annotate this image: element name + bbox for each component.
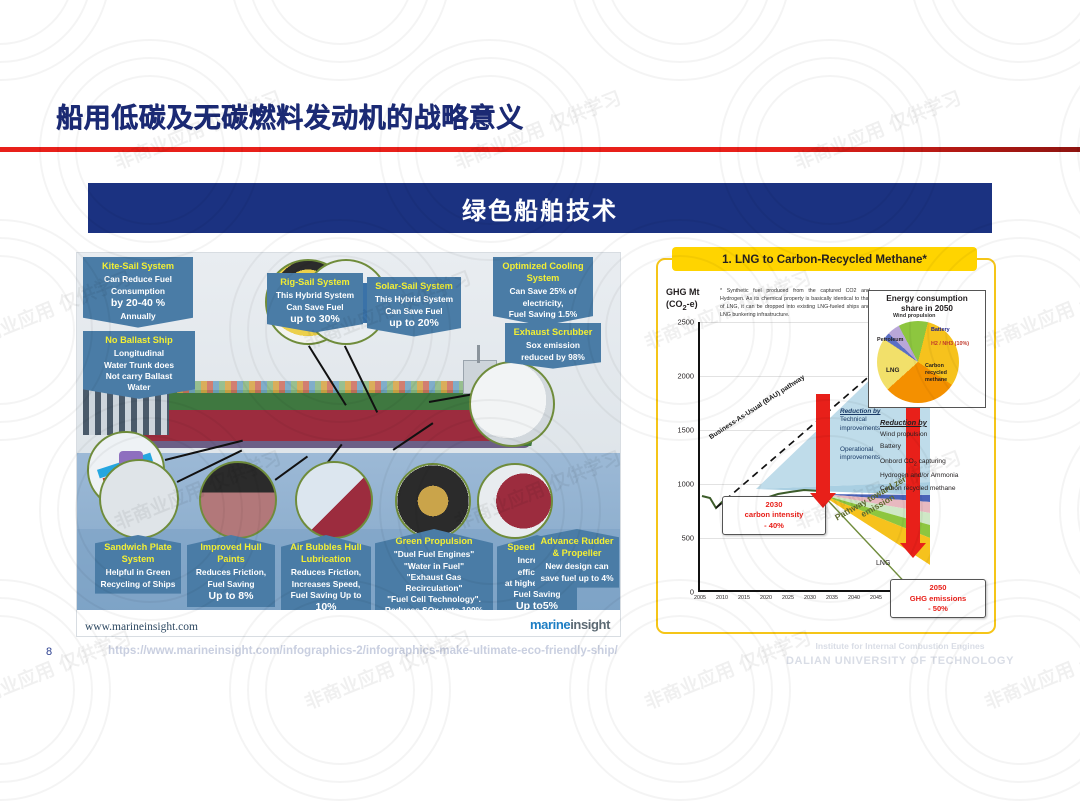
label-line: Can Save Fuel	[286, 302, 343, 312]
label-line: Fuel Saving	[207, 579, 254, 589]
label-line: This Hybrid System	[375, 294, 453, 304]
label-heading: Improved Hull Paints	[192, 542, 270, 566]
label-heading: No Ballast Ship	[88, 335, 190, 347]
label-line: "Water in Fuel"	[404, 561, 464, 571]
x-tick-label: 2005	[694, 595, 706, 601]
watermark-arc	[247, 0, 433, 63]
air-bubble-photo	[295, 461, 373, 539]
callout-line: - 40%	[764, 521, 784, 530]
label-line: Not carry Ballast	[106, 371, 173, 381]
x-tick-label: 2020	[760, 595, 772, 601]
label-heading: Sandwich Plate System	[100, 542, 176, 566]
chart-title: 1. LNG to Carbon-Recycled Methane*	[672, 247, 977, 271]
label-line: Water	[128, 382, 151, 392]
watermark-arc	[0, 0, 75, 45]
logo-text-marine: marine	[530, 617, 570, 632]
legend-item-battery: Battery	[866, 443, 988, 451]
label-line: Recycling of Ships	[101, 579, 176, 589]
page-number: 8	[46, 646, 52, 658]
y-tick-label: 1000	[678, 480, 694, 489]
watermark-arc	[1059, 399, 1080, 621]
watermark-arc	[587, 0, 773, 63]
label-line: by 20-40 %	[111, 297, 165, 309]
label-heading: Air Bubbles Hull Lubrication	[286, 542, 366, 566]
label-line: Reduces Friction,	[291, 567, 361, 577]
y-tick-label: 1500	[678, 426, 694, 435]
pie-label-petroleum: Petroleum	[877, 337, 903, 343]
red-arrow-2030	[816, 394, 830, 494]
legend-item-wind-propulsion: Wind propulsion	[866, 431, 988, 439]
label-line: Can Save Fuel	[385, 306, 442, 316]
label-line: electricity,	[523, 298, 564, 308]
energy-share-pie	[877, 321, 959, 403]
x-tick-label: 2030	[804, 595, 816, 601]
watermark-arc	[0, 0, 93, 63]
watermark-arc	[945, 615, 1080, 765]
label-line: This Hybrid System	[276, 290, 354, 300]
label-line: Can Reduce Fuel	[104, 274, 172, 284]
watermark-arc	[945, 0, 1080, 45]
sandwich-plate-photo	[99, 459, 179, 539]
infographic-source-url: www.marineinsight.com	[85, 621, 198, 633]
label-line: Longitudinal	[114, 348, 164, 358]
label-improved-hull-paints: Improved Hull Paints Reduces Friction, F…	[187, 535, 275, 607]
section-banner-label: 绿色船舶技术	[462, 191, 618, 226]
section-banner: 绿色船舶技术	[88, 183, 992, 233]
label-advance-rudder: Advance Rudder & Propeller New design ca…	[535, 529, 619, 588]
hull-paint-photo	[199, 461, 277, 539]
pie-label-h2-nh3: H2 / NH3 (10%)	[931, 341, 983, 348]
x-tick-label: 2025	[782, 595, 794, 601]
label-heading: Exhaust Scrubber	[510, 327, 596, 339]
legend-item-hydrogen-ammonia: Hydrogen and/or Ammonia	[866, 472, 988, 480]
label-line: Consumption	[111, 286, 165, 296]
watermark-arc	[605, 0, 755, 45]
pie-label-wind-propulsion: Wind propulsion	[893, 313, 935, 319]
label-optimized-cooling: Optimized Cooling System Can Save 25% of…	[493, 257, 593, 326]
speed-nozzle-photo	[395, 463, 471, 539]
legend-item-onboard-co2: Onbord CO2 capturing	[866, 458, 988, 468]
x-tick-label: 2035	[826, 595, 838, 601]
energy-share-pie-panel: Energy consumption share in 2050 Wind pr…	[868, 290, 986, 408]
pie-title-line2: share in 2050	[901, 304, 953, 313]
watermark-arc	[229, 0, 451, 81]
callout-line: 2030	[766, 500, 783, 509]
watermark-arc	[0, 0, 111, 81]
label-line: Sox emission	[526, 340, 580, 350]
watermark-arc	[605, 615, 755, 765]
callout-line: carbon intensity	[745, 510, 804, 519]
ship-containers	[177, 381, 477, 393]
page-title: 船用低碳及无碳燃料发动机的战略意义	[56, 96, 524, 135]
watermark-arc	[927, 0, 1080, 63]
label-line: Fuel Saving	[513, 589, 560, 599]
label-heading: Rig-Sail System	[272, 277, 358, 289]
pie-label-battery: Battery	[931, 327, 950, 333]
label-line: up to 30%	[290, 313, 340, 325]
x-tick-label: 2010	[716, 595, 728, 601]
label-line: "Duel Fuel Engines"	[394, 549, 475, 559]
chart-y-axis-label: GHG Mt (CO2-e)	[666, 286, 700, 313]
label-line: Increases Speed,	[292, 579, 360, 589]
label-heading: Solar-Sail System	[372, 281, 456, 293]
rudder-propeller-photo	[477, 463, 553, 539]
watermark-arc	[569, 0, 791, 81]
label-line: Reduces Friction,	[196, 567, 266, 577]
y-axis-label-line1: GHG Mt	[666, 287, 700, 297]
y-tick-label: 2500	[678, 318, 694, 327]
ship-mast	[477, 345, 480, 363]
label-kite-sail: Kite-Sail System Can Reduce Fuel Consump…	[83, 257, 193, 328]
label-heading: Kite-Sail System	[88, 261, 188, 273]
callout-2050-ghg-emissions: 2050 GHG emissions - 50%	[890, 579, 986, 618]
watermark-text: 非商业应用 仅供学习	[790, 83, 965, 175]
label-line: New design can	[545, 561, 608, 571]
label-air-bubbles: Air Bubbles Hull Lubrication Reduces Fri…	[281, 535, 371, 619]
label-heading: Optimized Cooling System	[498, 261, 588, 285]
label-heading: Advance Rudder & Propeller	[540, 536, 614, 560]
label-line: Fuel Saving 1.5%	[509, 309, 577, 319]
label-solar-sail: Solar-Sail System This Hybrid System Can…	[367, 277, 461, 337]
legend-title: Reduction by	[866, 418, 988, 427]
label-exhaust-scrubber: Exhaust Scrubber Sox emission reduced by…	[505, 323, 601, 369]
watermark-arc	[0, 255, 75, 405]
logo-text-insight: insight	[570, 617, 610, 632]
ship-waterline	[133, 441, 531, 448]
annotation-lng-wedge: LNG	[876, 560, 890, 567]
pie-title-line1: Energy consumption	[886, 294, 967, 303]
marineinsight-logo: marineinsight	[530, 617, 610, 632]
watermark-text: 非商业应用 仅供学习	[0, 623, 135, 715]
watermark-text: 非商业应用 仅供学习	[300, 623, 475, 715]
label-line: Fuel Saving Up to	[291, 590, 362, 600]
label-line: "Exhaust Gas Recirculation"	[405, 572, 462, 593]
watermark-arc	[265, 0, 415, 45]
pie-label-carbon-recycled-methane: Carbon recycled methane	[925, 363, 967, 384]
y-tick-label: 500	[682, 534, 694, 543]
exhaust-scrubber-photo	[469, 361, 555, 447]
title-divider	[0, 147, 1080, 152]
lng-carbon-recycled-methane-chart: 1. LNG to Carbon-Recycled Methane* GHG M…	[656, 258, 996, 634]
source-url: https://www.marineinsight.com/infographi…	[108, 644, 618, 657]
chart-legend: Reduction by Wind propulsion Battery Onb…	[866, 418, 988, 497]
legend-item-carbon-recycled-methane: Carbon recycled methane	[866, 485, 988, 493]
eco-ship-infographic: Kite-Sail System Can Reduce Fuel Consump…	[76, 252, 621, 637]
watermark-arc	[909, 0, 1080, 81]
x-tick-label: 2040	[848, 595, 860, 601]
watermark-arc	[0, 615, 75, 765]
label-line: Annually	[120, 311, 155, 321]
annotation-reduction-by-title: Reduction by	[840, 408, 880, 415]
x-tick-label: 2015	[738, 595, 750, 601]
y-axis-label-line2: (CO2-e)	[666, 299, 698, 309]
y-tick-label: 2000	[678, 372, 694, 381]
label-sandwich-plate: Sandwich Plate System Helpful in Green R…	[95, 535, 181, 594]
label-line: save fuel up to 4%	[540, 573, 613, 583]
label-line: Water Trunk does	[104, 360, 174, 370]
label-rig-sail: Rig-Sail System This Hybrid System Can S…	[267, 273, 363, 333]
pie-chart-title: Energy consumption share in 2050	[869, 291, 985, 314]
chart-y-axis	[698, 322, 700, 592]
label-line: up to 20%	[389, 317, 439, 329]
label-line: Can Save 25% of	[509, 286, 576, 296]
callout-line: GHG emissions	[910, 594, 967, 603]
university-name: DALIAN UNIVERSITY OF TECHNOLOGY	[760, 653, 1040, 670]
institute-name: Institute for Internal Combustion Engine…	[760, 640, 1040, 653]
label-no-ballast: No Ballast Ship Longitudinal Water Trunk…	[83, 331, 195, 399]
x-tick-label: 2045	[870, 595, 882, 601]
label-line: "Fuel Cell Technology".	[387, 594, 481, 604]
chart-footnote: * Synthetic fuel produced from the captu…	[720, 288, 870, 320]
label-line: reduced by 98%	[521, 352, 585, 362]
label-line: Up to 8%	[209, 590, 254, 602]
watermark-arc	[265, 615, 415, 765]
pie-label-lng: LNG	[886, 367, 900, 374]
callout-line: 2050	[930, 583, 947, 592]
callout-line: - 50%	[928, 604, 948, 613]
label-line: Helpful in Green	[106, 567, 171, 577]
